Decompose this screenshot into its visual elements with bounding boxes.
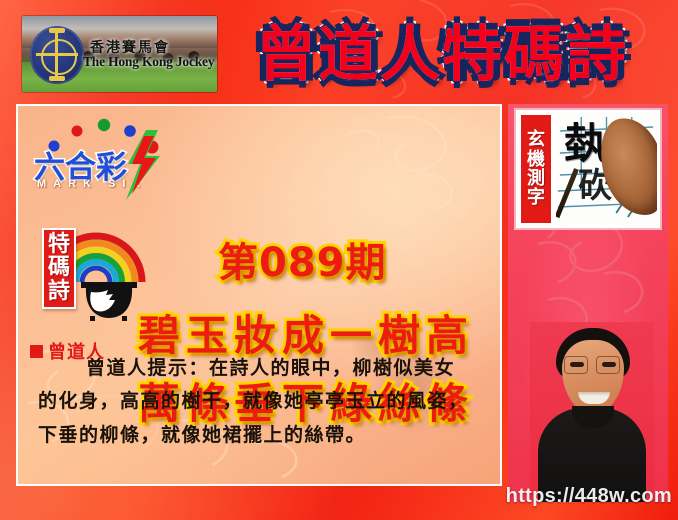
- zengdaoren-portrait: [530, 322, 654, 502]
- explanation-line-3: 下垂的柳條，就像她裙擺上的絲帶。: [38, 423, 480, 447]
- right-column: 玄 機 測 字: [508, 104, 668, 502]
- explanation-line-2: 的化身，高高的樹干，就像她亭亭玉立的風姿，: [38, 389, 480, 413]
- hkjc-emblem-icon: [30, 26, 84, 84]
- temashi-char-1: 特: [44, 233, 74, 256]
- xuanji-char-3: 測: [527, 169, 545, 188]
- pot-of-gold-icon: [78, 268, 140, 322]
- header: 香港賽馬會 The Hong Kong Jockey Club 曾道人特碼詩: [0, 0, 678, 98]
- temashi-char-2: 碼: [44, 256, 74, 279]
- xuanji-char-4: 字: [527, 188, 545, 207]
- calligraphy-artwork: 埶 砍: [556, 113, 657, 225]
- explanation-line-1: 曾道人提示：在詩人的眼中，柳樹似美女: [38, 356, 480, 380]
- temashi-vertical-badge: 特 碼 詩: [42, 228, 76, 309]
- issue-number: 第089期: [218, 230, 387, 288]
- xuanji-cezi-card[interactable]: 玄 機 測 字: [514, 108, 662, 230]
- page-title: 曾道人特碼詩: [212, 6, 672, 92]
- marksix-logo: 六合彩 MARK SIX: [32, 114, 182, 200]
- xuanji-char-1: 玄: [527, 130, 545, 149]
- temashi-char-3: 詩: [44, 280, 74, 303]
- site-watermark: https://448w.com: [506, 485, 672, 508]
- xuanji-char-2: 機: [527, 150, 545, 169]
- lightning-bolt-icon: [120, 130, 166, 200]
- calligraphy-character: 埶: [564, 123, 606, 165]
- xuanji-vertical-label: 玄 機 測 字: [519, 113, 553, 225]
- hkjc-logo: 香港賽馬會 The Hong Kong Jockey Club: [22, 16, 217, 92]
- badge-cluster: 特 碼 詩: [28, 210, 148, 332]
- hkjc-name-en: The Hong Kong Jockey Club: [83, 54, 217, 70]
- explanation-block: 曾道人提示：在詩人的眼中，柳樹似美女 的化身，高高的樹干，就像她亭亭玉立的風姿，…: [16, 338, 502, 486]
- poster-root: 香港賽馬會 The Hong Kong Jockey Club 曾道人特碼詩: [0, 0, 678, 520]
